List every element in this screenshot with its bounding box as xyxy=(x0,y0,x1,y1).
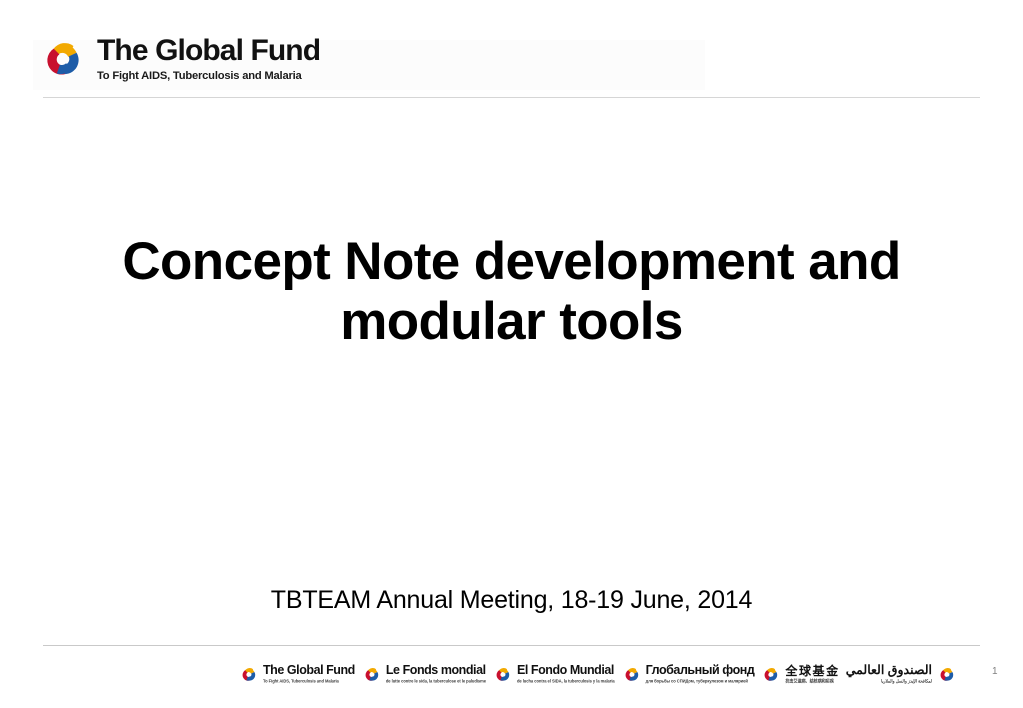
global-fund-swirl-icon xyxy=(760,664,781,685)
footer-brand-tagline: لمكافحة الإيدز والسل والملاريا xyxy=(846,679,932,684)
header-wordmark: The Global Fund To Fight AIDS, Tuberculo… xyxy=(97,36,320,82)
header-brand-name: The Global Fund xyxy=(97,36,320,66)
footer-logo-en: The Global FundTo Fight AIDS, Tuberculos… xyxy=(238,664,355,685)
slide-title: Concept Note development and modular too… xyxy=(62,232,961,352)
footer-brand-tagline: de lucha contra el SIDA, la tuberculosis… xyxy=(517,679,615,684)
slide-title-line-2: modular tools xyxy=(340,292,683,351)
footer-logo-fr: Le Fonds mondialde lutte contre le sida,… xyxy=(361,664,486,685)
footer-logo-zh: 全球基金抗击艾滋病、结核病和疟疾 xyxy=(760,664,839,685)
slide-title-line-1: Concept Note development and xyxy=(122,232,900,291)
footer-logo-ru: Глобальный фонддля борьбы со СПИДом, туб… xyxy=(621,664,755,685)
footer-brand-name: 全球基金 xyxy=(785,665,839,677)
global-fund-swirl-icon xyxy=(936,664,957,685)
footer-wordmark: Глобальный фонддля борьбы со СПИДом, туб… xyxy=(646,664,755,683)
footer-brand-tagline: To Fight AIDS, Tuberculosis and Malaria xyxy=(263,679,355,684)
global-fund-swirl-icon xyxy=(238,664,259,685)
footer-brand-name: الصندوق العالمي xyxy=(846,664,932,677)
global-fund-swirl-icon xyxy=(361,664,382,685)
slide-header: The Global Fund To Fight AIDS, Tuberculo… xyxy=(0,0,1023,98)
footer-brand-name: El Fondo Mundial xyxy=(517,664,615,677)
footer-brand-name: Глобальный фонд xyxy=(646,664,755,677)
footer-brand-name: The Global Fund xyxy=(263,664,355,677)
footer-brand-name: Le Fonds mondial xyxy=(386,664,486,677)
footer-wordmark: الصندوق العالميلمكافحة الإيدز والسل والم… xyxy=(846,664,932,683)
header-divider xyxy=(43,97,980,98)
global-fund-swirl-icon xyxy=(621,664,642,685)
footer-wordmark: Le Fonds mondialde lutte contre le sida,… xyxy=(386,664,486,683)
header-brand-tagline: To Fight AIDS, Tuberculosis and Malaria xyxy=(97,71,320,82)
footer-brand-tagline: 抗击艾滋病、结核病和疟疾 xyxy=(785,679,839,684)
footer-divider xyxy=(43,645,980,646)
slide-subtitle: TBTEAM Annual Meeting, 18-19 June, 2014 xyxy=(62,585,961,615)
header-logo-lockup: The Global Fund To Fight AIDS, Tuberculo… xyxy=(36,33,320,85)
footer-wordmark: El Fondo Mundialde lucha contra el SIDA,… xyxy=(517,664,615,683)
footer-brand-tagline: для борьбы со СПИДом, туберкулезом и мал… xyxy=(646,679,755,684)
footer-wordmark: The Global FundTo Fight AIDS, Tuberculos… xyxy=(263,664,355,683)
global-fund-swirl-icon xyxy=(492,664,513,685)
page-number: 1 xyxy=(992,666,998,677)
footer-logo-es: El Fondo Mundialde lucha contra el SIDA,… xyxy=(492,664,615,685)
footer-logo-ar: الصندوق العالميلمكافحة الإيدز والسل والم… xyxy=(846,664,957,685)
footer-brand-tagline: de lutte contre le sida, la tuberculose … xyxy=(386,679,486,684)
footer-logo-strip: The Global FundTo Fight AIDS, Tuberculos… xyxy=(238,657,957,691)
footer-wordmark: 全球基金抗击艾滋病、结核病和疟疾 xyxy=(785,665,839,684)
global-fund-swirl-icon xyxy=(36,33,88,85)
